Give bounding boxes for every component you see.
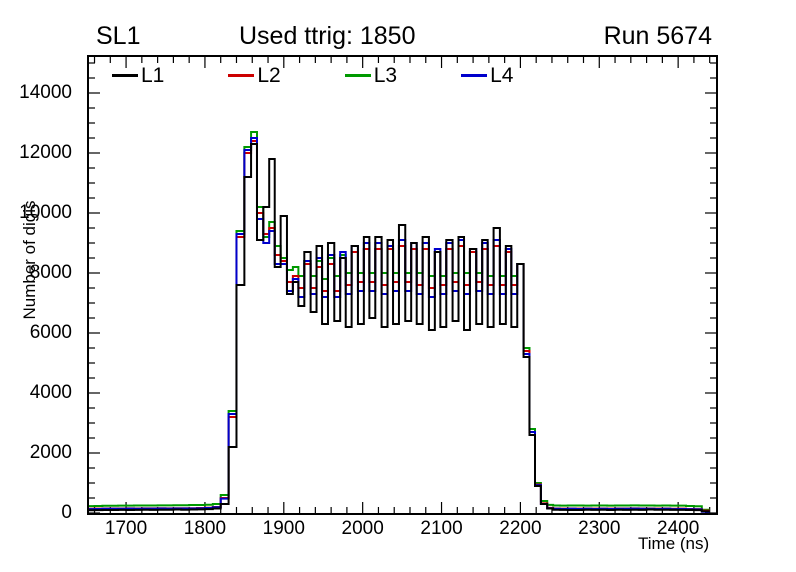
legend-swatch-l3 <box>345 74 371 77</box>
y-tick-label: 10000 <box>19 202 72 224</box>
plot-area <box>89 57 716 513</box>
x-tick-label: 2100 <box>420 518 462 540</box>
x-tick-label: 1700 <box>105 518 147 540</box>
x-tick-label: 2200 <box>499 518 541 540</box>
series-line-l2 <box>89 141 710 511</box>
legend-label: L2 <box>257 65 280 86</box>
header-right-label: Run 5674 <box>604 21 712 51</box>
header-left-label: SL1 <box>96 21 140 51</box>
y-tick-label: 6000 <box>30 322 72 344</box>
x-tick-label: 2300 <box>578 518 620 540</box>
y-tick-label: 2000 <box>30 442 72 464</box>
legend-label: L1 <box>141 65 164 86</box>
series-line-l1 <box>89 144 710 511</box>
legend-item-l3[interactable]: L3 <box>345 65 397 86</box>
legend-swatch-l1 <box>112 74 138 77</box>
legend-item-l1[interactable]: L1 <box>112 65 164 86</box>
x-tick-label: 2000 <box>342 518 384 540</box>
y-tick-label: 0 <box>61 502 72 524</box>
legend-label: L3 <box>374 65 397 86</box>
x-tick-label: 1800 <box>184 518 226 540</box>
legend-item-l4[interactable]: L4 <box>461 65 513 86</box>
y-tick-label: 8000 <box>30 262 72 284</box>
legend: L1L2L3L4 <box>112 62 513 88</box>
y-tick-label: 4000 <box>30 382 72 404</box>
plot-frame <box>87 55 718 515</box>
legend-label: L4 <box>490 65 513 86</box>
legend-swatch-l4 <box>461 74 487 77</box>
legend-item-l2[interactable]: L2 <box>228 65 280 86</box>
legend-swatch-l2 <box>228 74 254 77</box>
x-tick-label: 2400 <box>657 518 699 540</box>
chart-canvas: SL1 Used ttrig: 1850 Run 5674 Number of … <box>0 0 796 572</box>
y-tick-label: 12000 <box>19 142 72 164</box>
header-center-label: Used ttrig: 1850 <box>239 21 416 51</box>
x-tick-label: 1900 <box>263 518 305 540</box>
y-tick-label: 14000 <box>19 82 72 104</box>
